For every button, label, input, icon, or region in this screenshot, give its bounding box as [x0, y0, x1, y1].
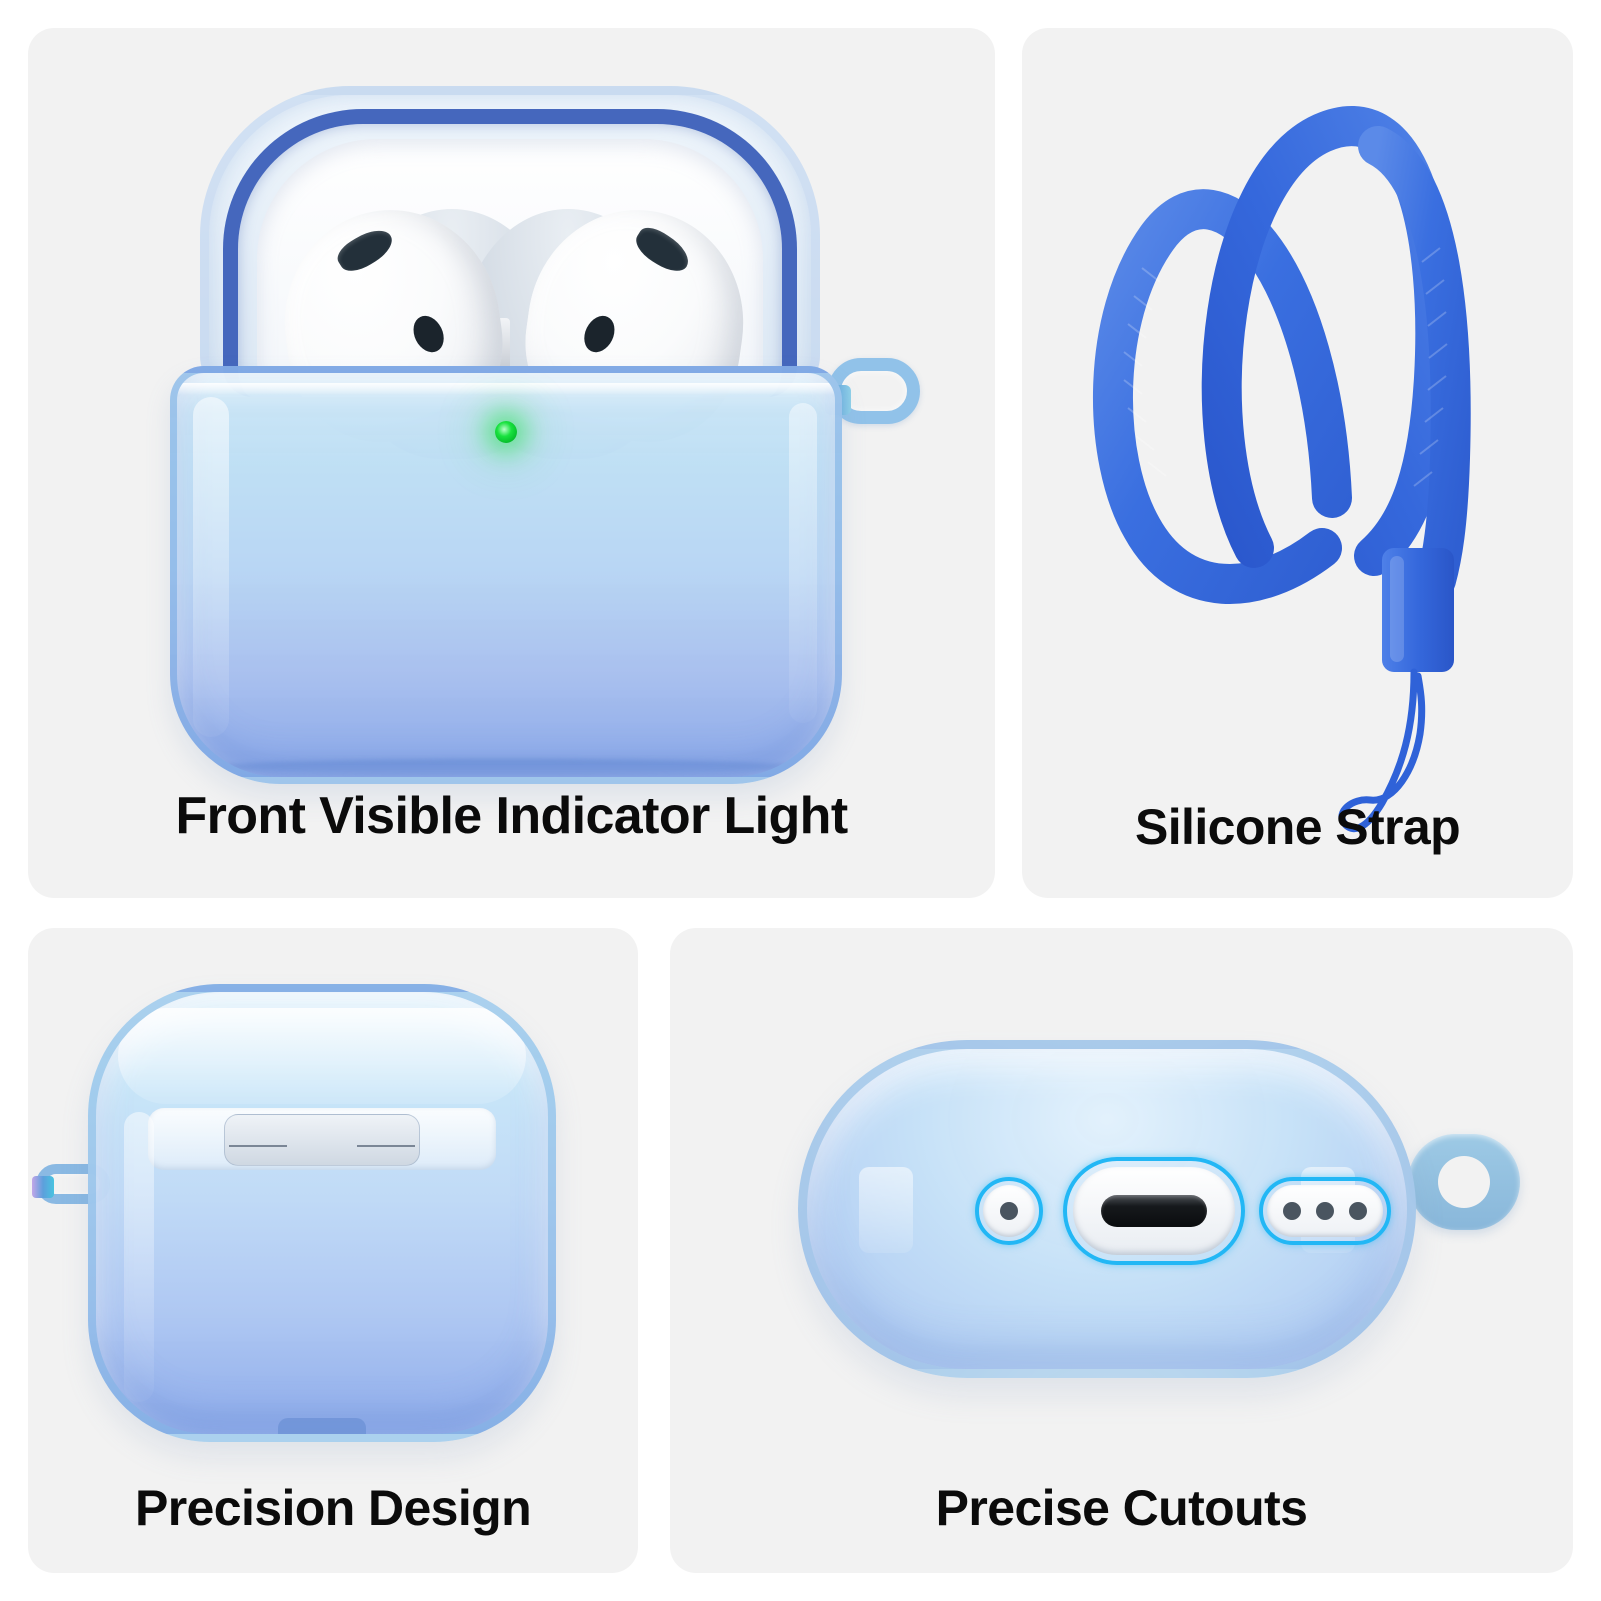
strap-svg [1022, 28, 1573, 898]
case-highlight-left [859, 1167, 913, 1253]
case-body-bottom [798, 1040, 1416, 1378]
feature-card-indicator[interactable]: Front Visible Indicator Light [28, 28, 995, 898]
feature-label-indicator: Front Visible Indicator Light [28, 790, 995, 842]
feature-label-strap: Silicone Strap [1022, 802, 1573, 852]
airpods-case-front-open-illustration [28, 28, 995, 898]
case-body-front [170, 366, 842, 784]
feature-card-strap[interactable]: Silicone Strap [1022, 28, 1573, 898]
earbud-grille-icon [333, 222, 398, 278]
earbud-sensor-icon [578, 311, 620, 357]
feature-label-cutouts: Precise Cutouts [670, 1483, 1573, 1533]
feature-card-cutouts[interactable]: Precise Cutouts [670, 928, 1573, 1573]
cutout-ring-speaker [1259, 1177, 1391, 1245]
indicator-led [495, 421, 517, 443]
case-lid-trim [118, 1008, 526, 1104]
earbud-sensor-icon [408, 311, 450, 357]
keyring-tab [1408, 1134, 1520, 1230]
case-sheen-right [789, 403, 817, 723]
case-rim-highlight [177, 383, 835, 395]
cutout-ring-microphone [975, 1177, 1043, 1245]
cutout-ring-usb-c [1063, 1157, 1245, 1265]
case-hinge [224, 1114, 420, 1166]
case-sheen-left [193, 397, 229, 737]
case-sheen-left [124, 1112, 154, 1402]
earbud-grille-icon [630, 222, 695, 278]
feature-label-precision: Precision Design [28, 1483, 638, 1533]
feature-grid: Front Visible Indicator Light [0, 0, 1601, 1601]
strap-slider-highlight [1390, 556, 1404, 662]
case-bottom-notch [278, 1418, 366, 1440]
feature-card-precision[interactable]: Precision Design [28, 928, 638, 1573]
airpods-case-bottom-illustration [670, 928, 1573, 1573]
case-body-back [88, 984, 556, 1442]
airpods-case-back-illustration [28, 928, 638, 1573]
silicone-strap-illustration [1022, 28, 1573, 898]
case-bottom-edge [216, 759, 795, 775]
